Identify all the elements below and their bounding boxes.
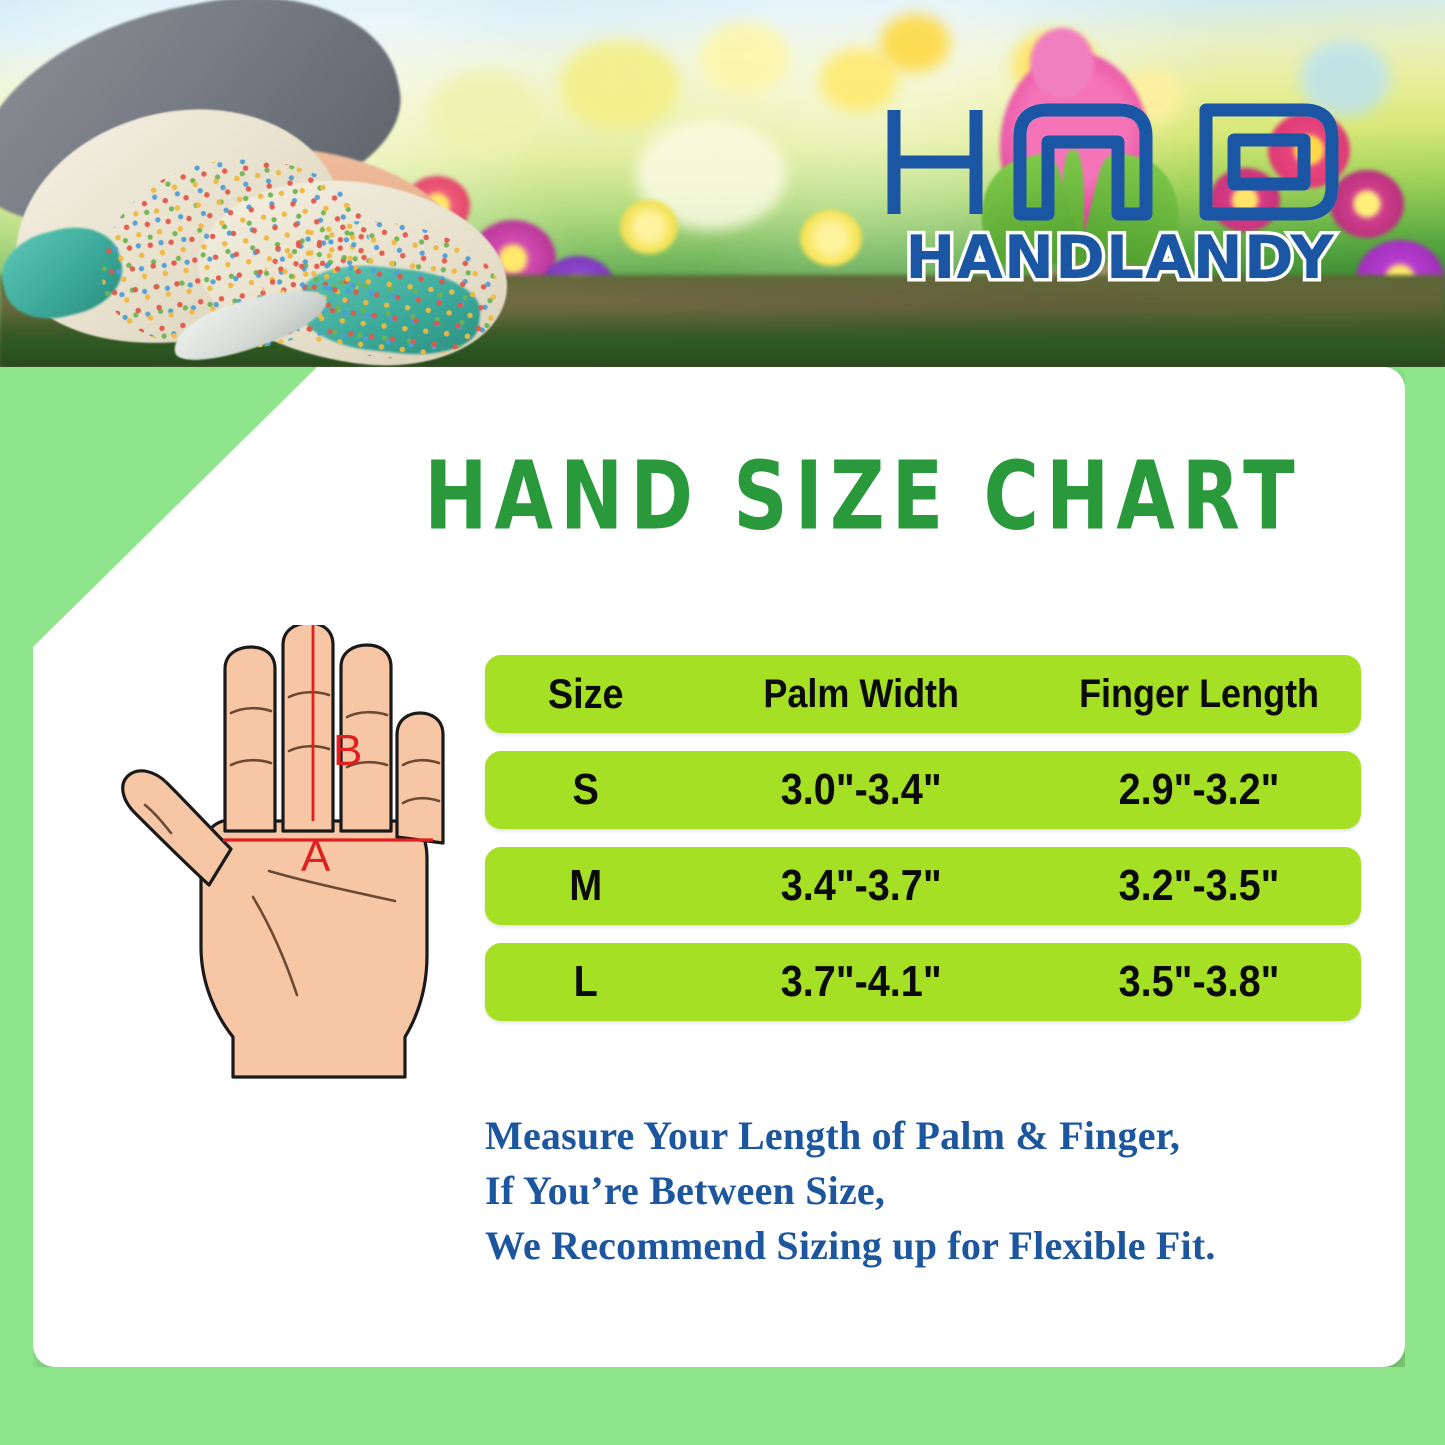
- sizing-note-line-2: If You’re Between Size,: [485, 1164, 1385, 1219]
- column-header-finger-length: Finger Length: [1053, 672, 1345, 717]
- buttercup-flower: [800, 210, 862, 266]
- column-header-palm-width: Palm Width: [704, 672, 1019, 717]
- cell-size: L: [495, 957, 676, 1007]
- sizing-note-line-1: Measure Your Length of Palm & Finger,: [485, 1109, 1385, 1164]
- column-header-size: Size: [495, 670, 676, 718]
- middle-finger: [283, 625, 333, 831]
- brand-logo: HANDLANDY: [880, 96, 1360, 288]
- cell-finger-length: 3.5"-3.8": [1053, 957, 1345, 1007]
- table-row: M 3.4"-3.7" 3.2"-3.5": [485, 847, 1361, 925]
- cell-palm-width: 3.7"-4.1": [704, 957, 1019, 1007]
- cell-finger-length: 3.2"-3.5": [1053, 861, 1345, 911]
- little-finger: [397, 713, 443, 843]
- table-header-row: Size Palm Width Finger Length: [485, 655, 1361, 733]
- label-b: B: [333, 726, 362, 775]
- cell-palm-width: 3.4"-3.7": [704, 861, 1019, 911]
- hand-measurement-diagram: B A: [105, 625, 495, 1085]
- bokeh-blossom: [430, 70, 540, 156]
- cell-size: S: [495, 765, 676, 815]
- brand-name-text: HANDLANDY: [905, 223, 1335, 288]
- sizing-note-line-3: We Recommend Sizing up for Flexible Fit.: [485, 1219, 1385, 1274]
- bokeh-blossom: [700, 22, 790, 94]
- page-title: HAND SIZE CHART: [353, 441, 1373, 551]
- buttercup-flower: [620, 200, 678, 254]
- bokeh-blossom: [560, 40, 680, 130]
- cell-finger-length: 2.9"-3.2": [1053, 765, 1345, 815]
- sizing-note: Measure Your Length of Palm & Finger, If…: [485, 1109, 1385, 1273]
- size-chart-page: HANDLANDY HAND SIZE CHART: [0, 0, 1445, 1445]
- hero-photo: HANDLANDY: [0, 0, 1445, 367]
- size-table: Size Palm Width Finger Length S 3.0"-3.4…: [485, 655, 1361, 1039]
- cell-size: M: [495, 861, 676, 911]
- table-row: L 3.7"-4.1" 3.5"-3.8": [485, 943, 1361, 1021]
- hyacinth-bud: [1030, 28, 1094, 98]
- label-a: A: [301, 832, 331, 881]
- bokeh-blossom: [880, 14, 950, 72]
- cell-palm-width: 3.0"-3.4": [704, 765, 1019, 815]
- size-chart-card: HAND SIZE CHART: [33, 367, 1405, 1367]
- table-row: S 3.0"-3.4" 2.9"-3.2": [485, 751, 1361, 829]
- index-finger: [225, 647, 275, 831]
